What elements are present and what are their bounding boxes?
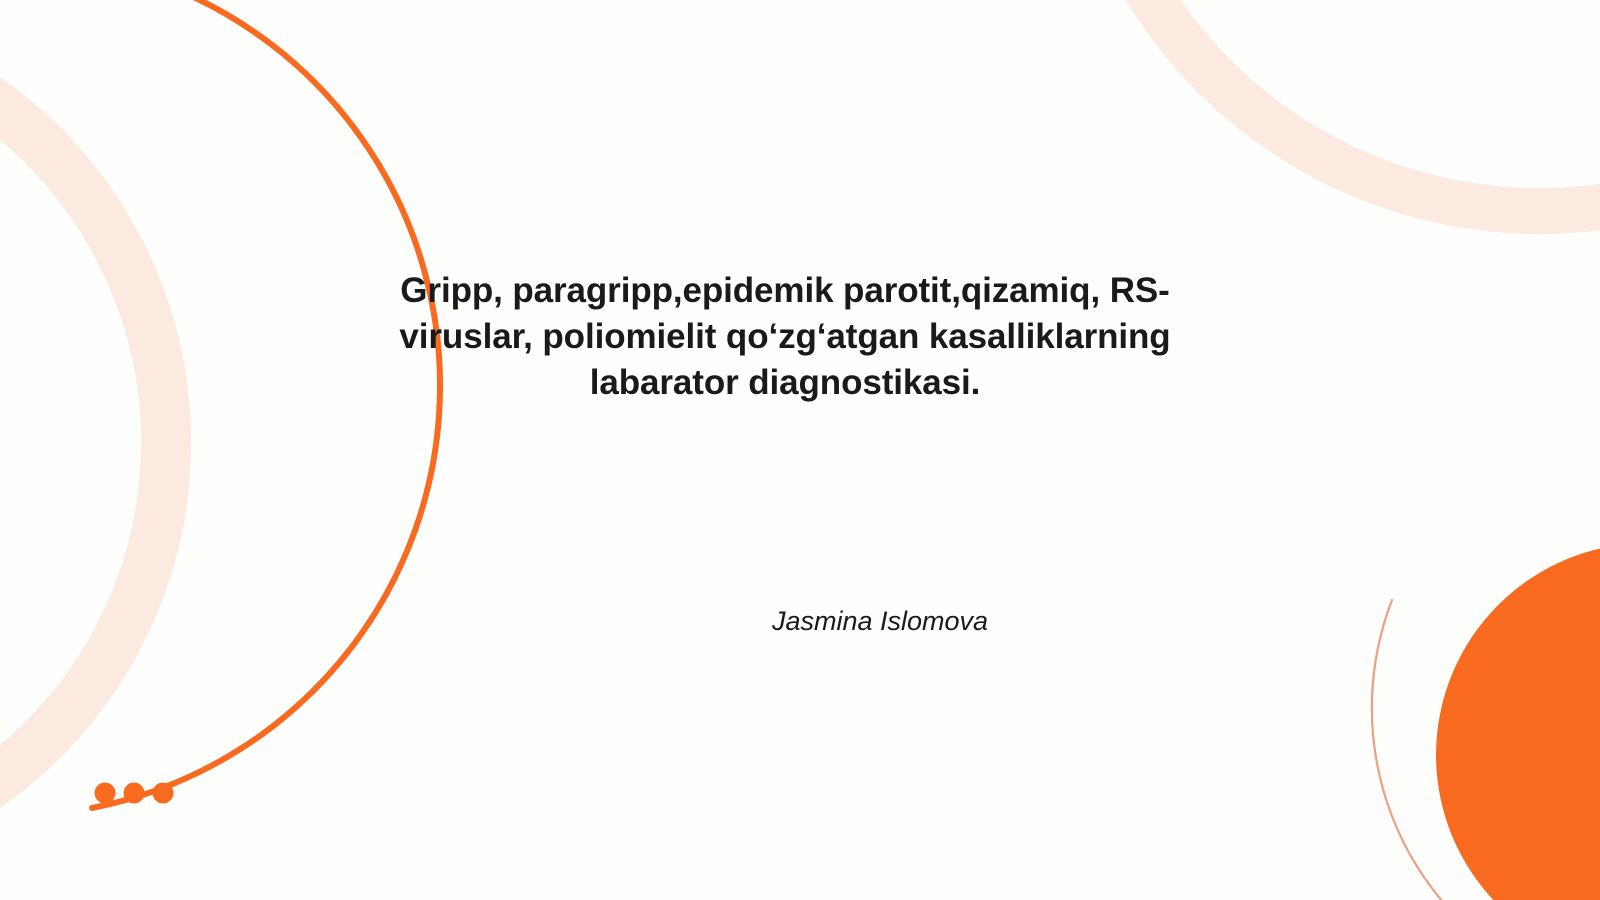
author-name: Jasmina Islomova <box>540 603 1220 639</box>
title-block: Gripp, paragripp,epidemik parotit,qizami… <box>325 268 1245 406</box>
slide-title: Gripp, paragripp,epidemik parotit,qizami… <box>325 268 1245 406</box>
presentation-slide: Gripp, paragripp,epidemik parotit,qizami… <box>0 0 1600 900</box>
author-block: Jasmina Islomova <box>540 603 1220 639</box>
slide-content: Gripp, paragripp,epidemik parotit,qizami… <box>0 0 1600 900</box>
